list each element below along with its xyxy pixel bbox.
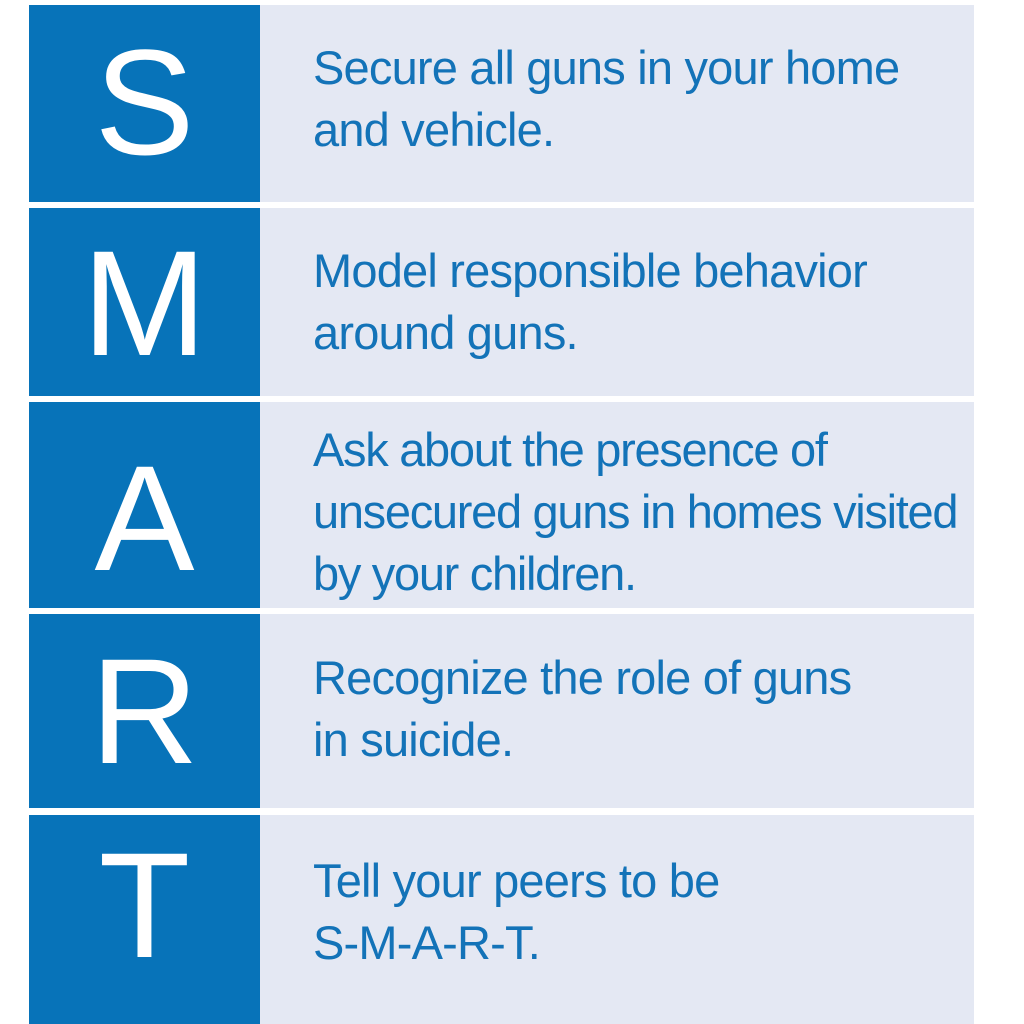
text-line: Model responsible behavior bbox=[313, 240, 974, 302]
acronym-letter-s: S bbox=[29, 27, 260, 177]
smart-row-a: A Ask about the presence of unsecured gu… bbox=[0, 402, 1024, 608]
text-line: S-M-A-R-T. bbox=[313, 912, 974, 974]
acronym-letter-t: T bbox=[29, 830, 260, 980]
text-line: Ask about the presence of bbox=[313, 419, 974, 481]
letter-box-t: T bbox=[29, 815, 260, 1024]
letter-box-m: M bbox=[29, 208, 260, 396]
text-panel-m: Model responsible behavior around guns. bbox=[260, 208, 974, 396]
text-line: around guns. bbox=[313, 302, 974, 364]
smart-text-s: Secure all guns in your home and vehicle… bbox=[313, 37, 974, 161]
text-line: unsecured guns in homes visited bbox=[313, 481, 974, 543]
smart-row-r: R Recognize the role of guns in suicide. bbox=[0, 614, 1024, 808]
smart-text-a: Ask about the presence of unsecured guns… bbox=[313, 419, 974, 605]
acronym-letter-r: R bbox=[29, 636, 260, 786]
smart-text-r: Recognize the role of guns in suicide. bbox=[313, 647, 974, 771]
text-line: and vehicle. bbox=[313, 99, 974, 161]
letter-box-a: A bbox=[29, 402, 260, 608]
smart-text-m: Model responsible behavior around guns. bbox=[313, 240, 974, 364]
smart-row-t: T Tell your peers to be S-M-A-R-T. bbox=[0, 815, 1024, 1024]
text-line: Recognize the role of guns bbox=[313, 647, 974, 709]
text-panel-s: Secure all guns in your home and vehicle… bbox=[260, 5, 974, 202]
text-line: Tell your peers to be bbox=[313, 850, 974, 912]
smart-row-s: S Secure all guns in your home and vehic… bbox=[0, 5, 1024, 202]
text-line: by your children. bbox=[313, 543, 974, 605]
smart-row-m: M Model responsible behavior around guns… bbox=[0, 208, 1024, 396]
letter-box-r: R bbox=[29, 614, 260, 808]
acronym-letter-a: A bbox=[29, 443, 260, 593]
text-line: Secure all guns in your home bbox=[313, 37, 974, 99]
smart-text-t: Tell your peers to be S-M-A-R-T. bbox=[313, 850, 974, 974]
smart-gun-safety-infographic: S Secure all guns in your home and vehic… bbox=[0, 0, 1024, 1024]
acronym-letter-m: M bbox=[29, 228, 260, 378]
letter-box-s: S bbox=[29, 5, 260, 202]
text-panel-r: Recognize the role of guns in suicide. bbox=[260, 614, 974, 808]
text-panel-a: Ask about the presence of unsecured guns… bbox=[260, 402, 974, 608]
text-line: in suicide. bbox=[313, 709, 974, 771]
text-panel-t: Tell your peers to be S-M-A-R-T. bbox=[260, 815, 974, 1024]
